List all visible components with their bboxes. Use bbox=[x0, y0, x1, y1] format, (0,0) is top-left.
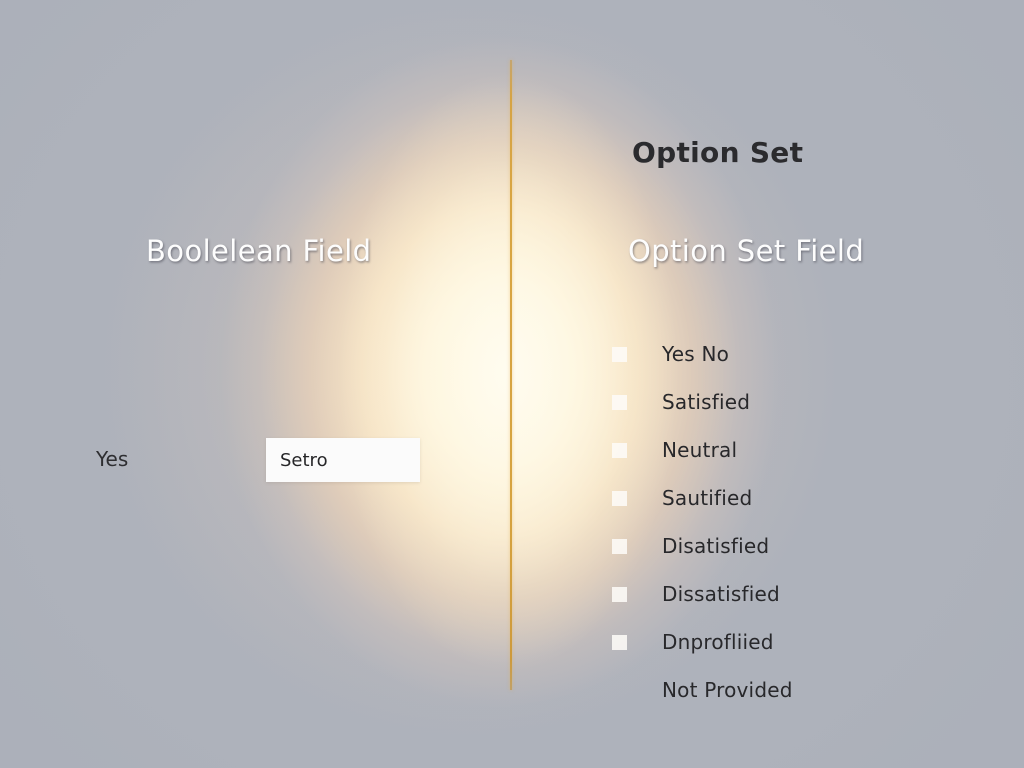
vertical-gold-divider bbox=[510, 60, 512, 690]
option-checkbox-icon[interactable] bbox=[612, 539, 627, 554]
option-set-list: Yes NoSatisfiedNeutralSautifiedDisatisfi… bbox=[612, 330, 942, 714]
option-checkbox-icon[interactable] bbox=[612, 491, 627, 506]
option-label: Disatisfied bbox=[662, 534, 769, 558]
option-row[interactable]: Disatisfied bbox=[612, 522, 942, 570]
option-checkbox-icon[interactable] bbox=[612, 443, 627, 458]
option-checkbox-icon[interactable] bbox=[612, 347, 627, 362]
option-row[interactable]: Not Provided bbox=[612, 666, 942, 714]
option-label: Dissatisfied bbox=[662, 582, 780, 606]
option-checkbox-icon[interactable] bbox=[612, 587, 627, 602]
option-row[interactable]: Satisfied bbox=[612, 378, 942, 426]
option-row[interactable]: Dissatisfied bbox=[612, 570, 942, 618]
boolean-text-input-value: Setro bbox=[266, 450, 328, 471]
option-set-field-heading: Option Set Field bbox=[628, 234, 864, 268]
option-checkbox-spacer bbox=[612, 683, 627, 698]
option-row[interactable]: Sautified bbox=[612, 474, 942, 522]
option-checkbox-icon[interactable] bbox=[612, 395, 627, 410]
option-checkbox-icon[interactable] bbox=[612, 635, 627, 650]
option-row[interactable]: Yes No bbox=[612, 330, 942, 378]
option-label: Satisfied bbox=[662, 390, 750, 414]
option-label: Sautified bbox=[662, 486, 752, 510]
option-row[interactable]: Dnprofliied bbox=[612, 618, 942, 666]
option-label: Dnprofliied bbox=[662, 630, 774, 654]
option-label: Neutral bbox=[662, 438, 737, 462]
option-label: Not Provided bbox=[662, 678, 793, 702]
option-row[interactable]: Neutral bbox=[612, 426, 942, 474]
option-set-title: Option Set bbox=[632, 136, 803, 169]
boolean-field-heading: Boolelean Field bbox=[146, 234, 371, 268]
boolean-value-label: Yes bbox=[96, 447, 128, 471]
boolean-text-input[interactable]: Setro bbox=[266, 438, 420, 482]
option-label: Yes No bbox=[662, 342, 729, 366]
screen-canvas: Boolelean Field Yes Setro Option Set Opt… bbox=[0, 0, 1024, 768]
